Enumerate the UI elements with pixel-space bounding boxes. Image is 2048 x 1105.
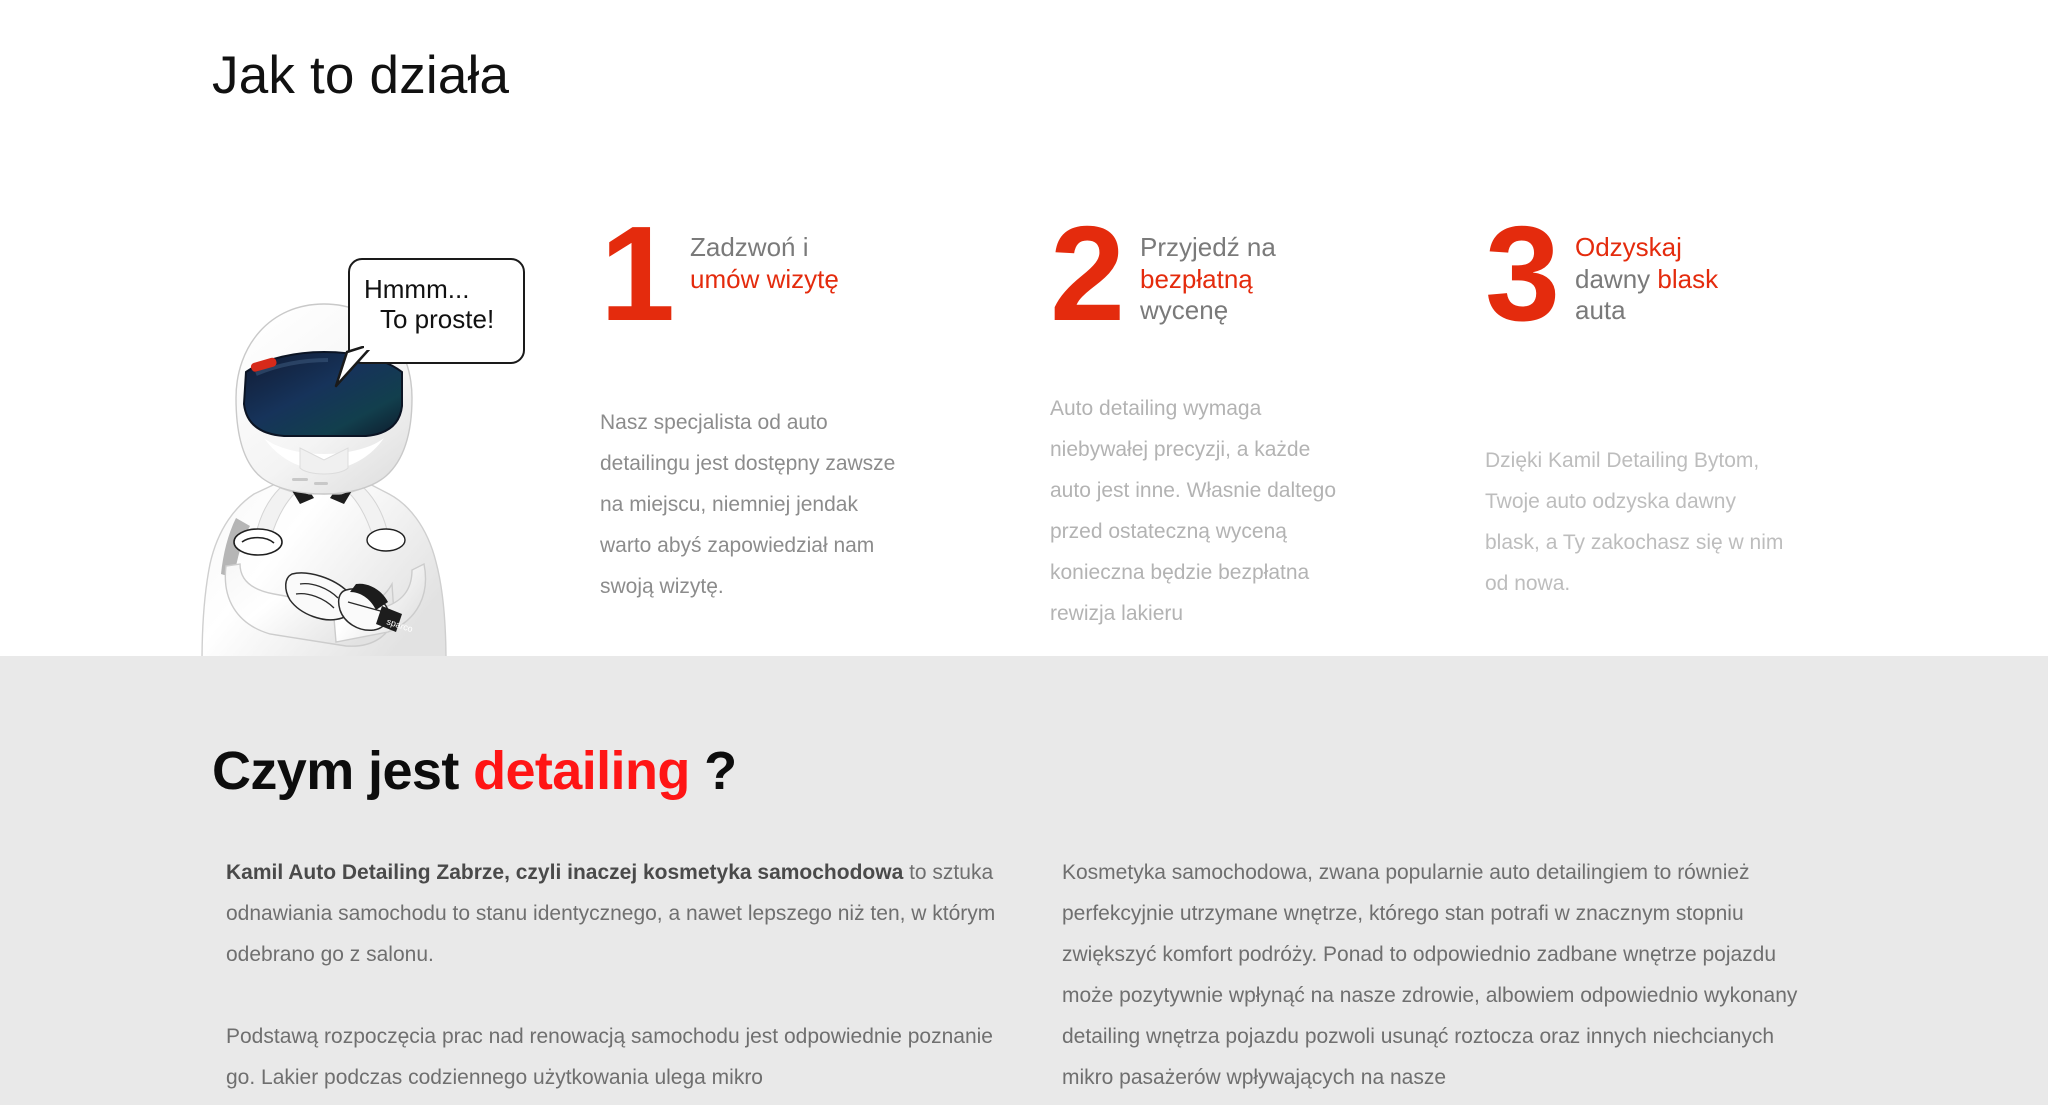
step-3-heading-part-3: auta — [1575, 295, 1626, 325]
step-3-heading-part-2: dawny blask — [1575, 264, 1718, 294]
step-2-heading-part-1: Przyjedź na — [1140, 232, 1276, 262]
right-paragraph-1: Kosmetyka samochodowa, zwana popularnie … — [1062, 852, 1822, 1098]
left-paragraph-2: Podstawą rozpoczęcia prac nad renowacją … — [226, 1016, 996, 1098]
step-2-number: 2 — [1050, 212, 1122, 336]
left-text-column: Kamil Auto Detailing Zabrze, czyli inacz… — [226, 852, 996, 1098]
step-3-heading-accent: blask — [1657, 264, 1718, 294]
mascot-illustration: Hmmm... To proste! — [196, 258, 476, 656]
what-is-detailing-title: Czym jest detailing ? — [212, 740, 737, 802]
speech-bubble-line-2: To proste! — [380, 304, 494, 335]
what-title-prefix: Czym jest — [212, 741, 473, 801]
step-2-heading-part-3: wycenę — [1140, 295, 1228, 325]
page-title: Jak to działa — [212, 46, 509, 107]
speech-bubble-tail-icon — [334, 346, 374, 388]
step-2-heading: Przyjedź na bezpłatną wycenę — [1140, 232, 1390, 327]
left-paragraph-1-bold: Kamil Auto Detailing Zabrze, czyli inacz… — [226, 861, 903, 884]
step-1-body: Nasz specjalista od auto detailingu jest… — [600, 402, 900, 607]
right-text-column: Kosmetyka samochodowa, zwana popularnie … — [1062, 852, 1822, 1098]
step-2-heading-part-2: bezpłatną — [1140, 264, 1253, 294]
what-is-detailing-section: Czym jest detailing ? Kamil Auto Detaili… — [0, 656, 2048, 1105]
step-3-heading: Odzyskaj dawny blask auta — [1575, 232, 1825, 327]
step-1-number: 1 — [600, 212, 672, 336]
step-1-heading-part-2: umów wizytę — [690, 264, 839, 294]
what-title-accent: detailing — [473, 741, 690, 801]
step-3-body: Dzięki Kamil Detailing Bytom, Twoje auto… — [1485, 440, 1785, 604]
how-it-works-section: Jak to działa Hmmm... To proste! — [0, 0, 2048, 656]
step-1-heading-part-1: Zadzwoń i — [690, 232, 809, 262]
landing-page: Jak to działa Hmmm... To proste! — [0, 0, 2048, 1105]
step-2-body: Auto detailing wymaga niebywałej precyzj… — [1050, 388, 1350, 634]
speech-bubble-line-1: Hmmm... — [364, 274, 469, 305]
speech-bubble: Hmmm... To proste! — [348, 258, 525, 364]
step-3-heading-part-1: Odzyskaj — [1575, 232, 1682, 262]
step-1-heading: Zadzwoń i umów wizytę — [690, 232, 940, 295]
what-title-suffix: ? — [690, 741, 737, 801]
step-3-number: 3 — [1485, 212, 1557, 336]
left-paragraph-1: Kamil Auto Detailing Zabrze, czyli inacz… — [226, 852, 996, 975]
